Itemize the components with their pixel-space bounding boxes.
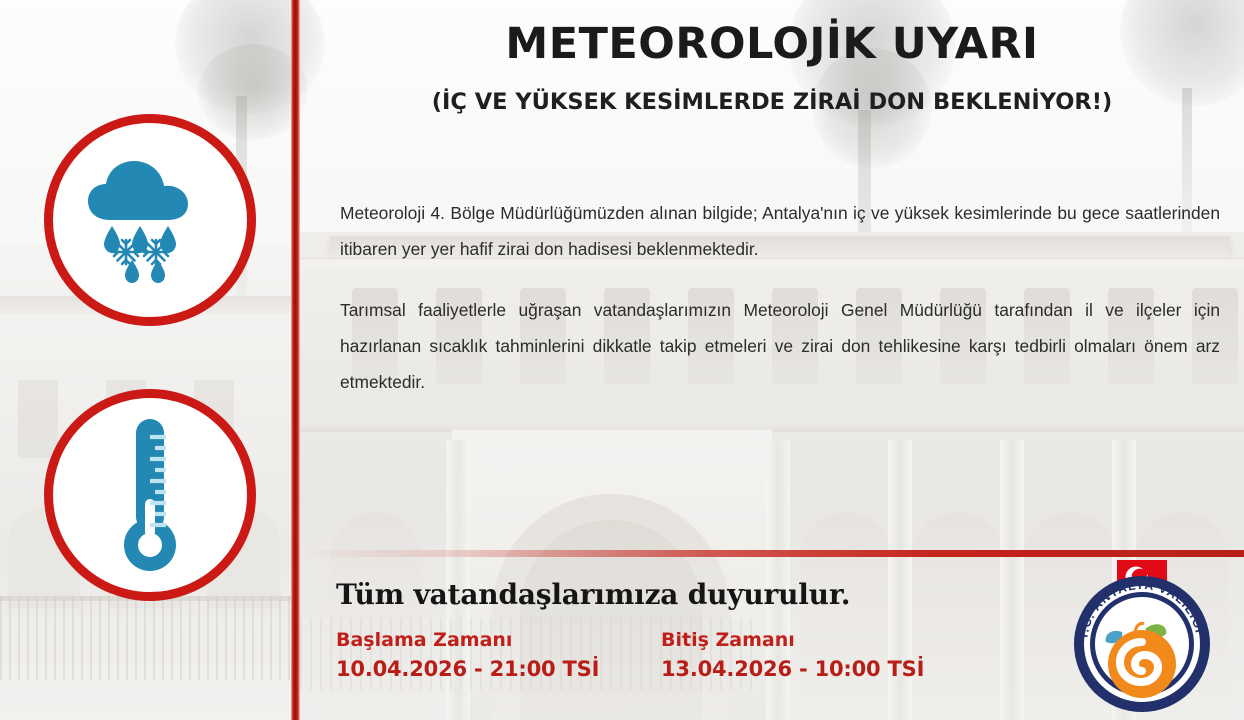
warning-paragraph-1: Meteoroloji 4. Bölge Müdürlüğümüzden alı… (340, 196, 1220, 267)
temperature-icon-badge (44, 389, 256, 601)
warning-body: Meteoroloji 4. Bölge Müdürlüğümüzden alı… (340, 196, 1220, 400)
warning-paragraph-2: Tarımsal faaliyetlerle uğraşan vatandaşl… (340, 293, 1220, 400)
end-time-label: Bitiş Zamanı (661, 629, 986, 651)
announcement-text: Tüm vatandaşlarımıza duyurulur. (336, 578, 1056, 611)
weather-icon-badge (44, 114, 256, 326)
horizontal-red-divider (300, 550, 1244, 557)
thermometer-icon (102, 415, 198, 575)
end-time-block: Bitiş Zamanı 13.04.2026 - 10:00 TSİ (661, 629, 986, 681)
cloud-rain-snow-icon (80, 156, 220, 284)
end-time-value: 13.04.2026 - 10:00 TSİ (661, 657, 986, 681)
warning-times: Başlama Zamanı 10.04.2026 - 21:00 TSİ Bi… (336, 629, 1056, 681)
poster-header: METEOROLOJİK UYARI (İÇ VE YÜKSEK KESİMLE… (300, 22, 1244, 114)
meteorological-warning-poster: METEOROLOJİK UYARI (İÇ VE YÜKSEK KESİMLE… (0, 0, 1244, 720)
page-title: METEOROLOJİK UYARI (300, 22, 1244, 68)
page-subtitle: (İÇ VE YÜKSEK KESİMLERDE ZİRAİ DON BEKLE… (300, 90, 1244, 115)
start-time-label: Başlama Zamanı (336, 629, 661, 651)
antalya-governorship-logo: T.C. ANTALYA VALİLİĞİ (1062, 558, 1222, 716)
background-string-course (300, 424, 1244, 432)
start-time-value: 10.04.2026 - 21:00 TSİ (336, 657, 661, 681)
start-time-block: Başlama Zamanı 10.04.2026 - 21:00 TSİ (336, 629, 661, 681)
background-fence (0, 596, 300, 680)
vertical-red-divider (291, 0, 300, 720)
poster-footer: Tüm vatandaşlarımıza duyurulur. Başlama … (336, 578, 1056, 681)
background-window (18, 380, 58, 458)
